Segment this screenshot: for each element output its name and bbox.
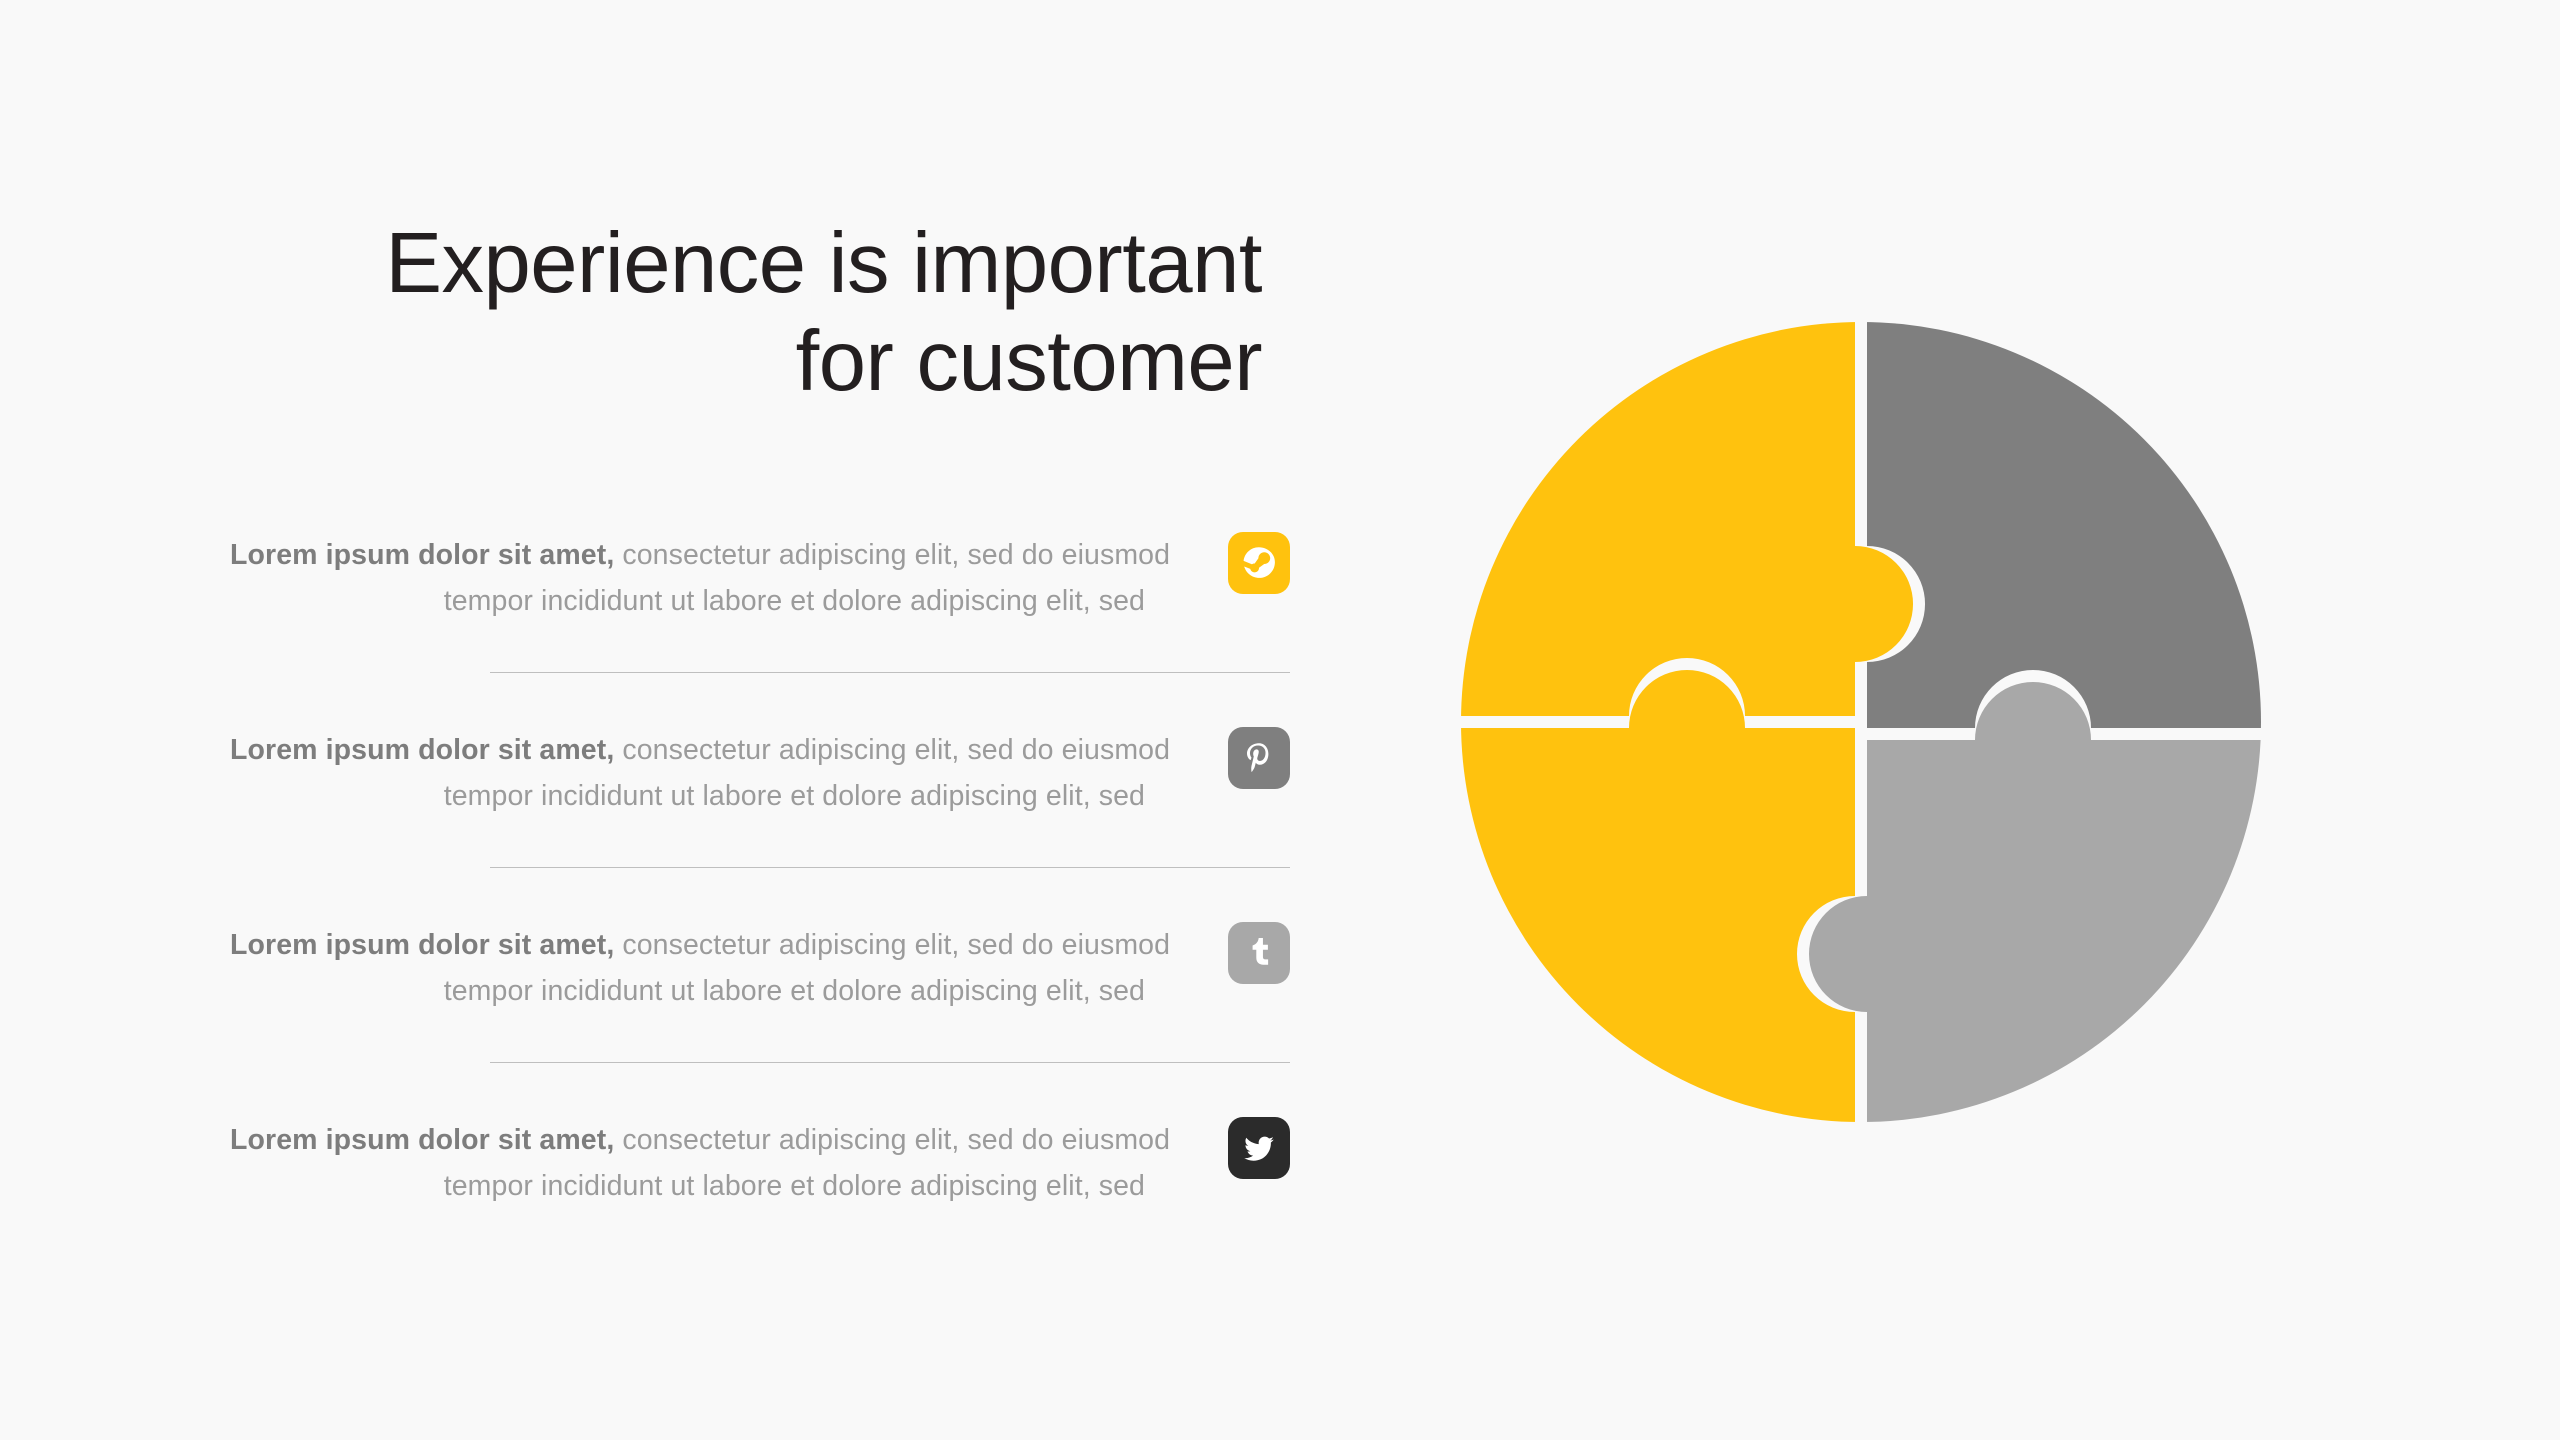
page-title-line-1: Experience is important bbox=[220, 215, 1262, 313]
list-item-lead: Lorem ipsum dolor sit amet, bbox=[230, 929, 614, 961]
puzzle-piece-bottom-right bbox=[1809, 682, 2267, 1128]
puzzle-piece-top-right bbox=[1867, 316, 2267, 728]
feature-list: Lorem ipsum dolor sit amet, consectetur … bbox=[220, 520, 1290, 1300]
list-item-rest: consectetur adipiscing elit, sed do eius… bbox=[614, 734, 1170, 766]
list-item-line-1: Lorem ipsum dolor sit amet, consectetur … bbox=[230, 532, 1145, 578]
list-item-lead: Lorem ipsum dolor sit amet, bbox=[230, 539, 614, 571]
page-title: Experience is important for customer bbox=[220, 215, 1262, 411]
list-item-text: Lorem ipsum dolor sit amet, consectetur … bbox=[230, 532, 1145, 624]
slide-canvas: Experience is important for customer Lor… bbox=[0, 0, 2560, 1440]
list-item-line-2: tempor incididunt ut labore et dolore ad… bbox=[230, 773, 1145, 819]
list-item-text: Lorem ipsum dolor sit amet, consectetur … bbox=[230, 1117, 1145, 1209]
list-item-line-1: Lorem ipsum dolor sit amet, consectetur … bbox=[230, 1117, 1145, 1163]
list-item-lead: Lorem ipsum dolor sit amet, bbox=[230, 1124, 614, 1156]
list-item-text: Lorem ipsum dolor sit amet, consectetur … bbox=[230, 727, 1145, 819]
pinterest-icon[interactable] bbox=[1228, 727, 1290, 789]
list-item-rest: consectetur adipiscing elit, sed do eius… bbox=[614, 929, 1170, 961]
list-item[interactable]: Lorem ipsum dolor sit amet, consectetur … bbox=[220, 715, 1290, 910]
list-item-line-1: Lorem ipsum dolor sit amet, consectetur … bbox=[230, 922, 1145, 968]
four-piece-circle-puzzle bbox=[1455, 316, 2267, 1128]
list-item[interactable]: Lorem ipsum dolor sit amet, consectetur … bbox=[220, 520, 1290, 715]
list-item-line-2: tempor incididunt ut labore et dolore ad… bbox=[230, 1163, 1145, 1209]
list-item-rest: consectetur adipiscing elit, sed do eius… bbox=[614, 1124, 1170, 1156]
list-item-line-2: tempor incididunt ut labore et dolore ad… bbox=[230, 578, 1145, 624]
list-item-lead: Lorem ipsum dolor sit amet, bbox=[230, 734, 614, 766]
list-item-rest: consectetur adipiscing elit, sed do eius… bbox=[614, 539, 1170, 571]
list-item-separator bbox=[490, 867, 1290, 868]
list-item-separator bbox=[490, 672, 1290, 673]
list-item-line-2: tempor incididunt ut labore et dolore ad… bbox=[230, 968, 1145, 1014]
list-item-separator bbox=[490, 1062, 1290, 1063]
list-item[interactable]: Lorem ipsum dolor sit amet, consectetur … bbox=[220, 910, 1290, 1105]
list-item-line-1: Lorem ipsum dolor sit amet, consectetur … bbox=[230, 727, 1145, 773]
tumblr-icon[interactable] bbox=[1228, 922, 1290, 984]
twitter-icon[interactable] bbox=[1228, 1117, 1290, 1179]
list-item[interactable]: Lorem ipsum dolor sit amet, consectetur … bbox=[220, 1105, 1290, 1300]
puzzle-piece-bottom-left bbox=[1455, 670, 1855, 1128]
steam-icon[interactable] bbox=[1228, 532, 1290, 594]
page-title-line-2: for customer bbox=[220, 313, 1262, 411]
list-item-text: Lorem ipsum dolor sit amet, consectetur … bbox=[230, 922, 1145, 1014]
puzzle-piece-top-left bbox=[1455, 316, 1913, 716]
